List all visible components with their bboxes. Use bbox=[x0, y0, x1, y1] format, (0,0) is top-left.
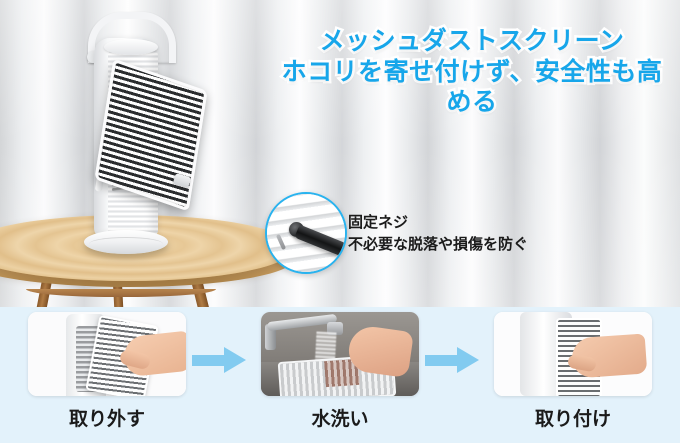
step-2-photo bbox=[261, 312, 419, 396]
headline-line-1: メッシュダストスクリーン bbox=[272, 26, 672, 57]
arrow-head bbox=[457, 347, 479, 373]
page-title: メッシュダストスクリーン ホコリを寄せ付けず、安全性も高める bbox=[272, 26, 672, 118]
arrow-step1-to-step2-icon bbox=[192, 347, 248, 373]
callout-title: 固定ネジ bbox=[348, 212, 528, 234]
headline-line-2: ホコリを寄せ付けず、安全性も高める bbox=[272, 57, 672, 118]
device-base-ring bbox=[89, 237, 163, 251]
table-support-bar bbox=[26, 289, 216, 297]
device-top-cap bbox=[104, 39, 158, 55]
step-2-label: 水洗い bbox=[261, 404, 419, 431]
arrow-head bbox=[224, 347, 246, 373]
screw-closeup-circle bbox=[265, 192, 347, 274]
tower-fan-heater bbox=[78, 12, 196, 252]
step-3-label: 取り付け bbox=[494, 404, 652, 431]
arrow-shaft bbox=[425, 355, 459, 366]
step-item-2: 水洗い bbox=[261, 312, 419, 431]
step-1-label: 取り外す bbox=[28, 404, 186, 431]
maintenance-steps-panel: 取り外す 水洗い bbox=[0, 307, 680, 443]
step-item-3: 取り付け bbox=[494, 312, 652, 431]
step-3-photo bbox=[494, 312, 652, 396]
callout-text-block: 固定ネジ 不必要な脱落や損傷を防ぐ bbox=[348, 212, 528, 256]
callout-description: 不必要な脱落や損傷を防ぐ bbox=[348, 234, 528, 256]
arrow-step2-to-step3-icon bbox=[425, 347, 481, 373]
product-feature-slide: メッシュダストスクリーン ホコリを寄せ付けず、安全性も高める 固定ネジ 不必要な… bbox=[0, 0, 680, 443]
arrow-shaft bbox=[192, 355, 226, 366]
step-item-1: 取り外す bbox=[28, 312, 186, 431]
step-1-photo bbox=[28, 312, 186, 396]
